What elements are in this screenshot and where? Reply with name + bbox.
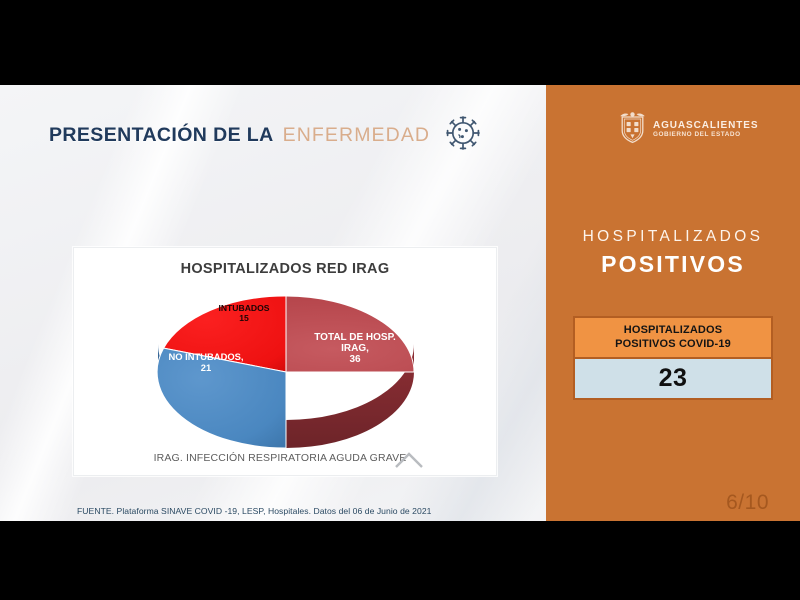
page-title: PRESENTACIÓN DE LA ENFERMEDAD <box>49 113 483 158</box>
source-footnote: FUENTE. Plataforma SINAVE COVID -19, LES… <box>77 506 432 516</box>
government-logo: AGUASCALIENTES GOBIERNO DEL ESTADO <box>619 111 758 149</box>
stat-card-label-line1: HOSPITALIZADOS <box>624 324 722 337</box>
pie-chart: INTUBADOS 15 NO INTUBADOS, 21 TOTAL DE H… <box>124 296 448 464</box>
chart-panel: HOSPITALIZADOS RED IRAG <box>73 247 497 476</box>
slide-canvas: PRESENTACIÓN DE LA ENFERMEDAD <box>0 85 800 521</box>
government-logo-text: AGUASCALIENTES GOBIERNO DEL ESTADO <box>653 121 758 138</box>
coat-of-arms-icon <box>619 111 646 149</box>
screenshot-frame: PRESENTACIÓN DE LA ENFERMEDAD <box>0 0 800 600</box>
sidebar-panel: AGUASCALIENTES GOBIERNO DEL ESTADO HOSPI… <box>546 85 800 521</box>
page-title-strong: PRESENTACIÓN DE LA <box>49 124 274 147</box>
government-logo-name: AGUASCALIENTES <box>653 121 758 131</box>
virus-icon <box>443 113 483 158</box>
sidebar-heading-light: HOSPITALIZADOS <box>546 228 800 246</box>
stat-card: HOSPITALIZADOS POSITIVOS COVID-19 23 <box>573 316 773 400</box>
stat-card-header: HOSPITALIZADOS POSITIVOS COVID-19 <box>575 318 771 359</box>
stat-card-label-line2: POSITIVOS COVID-19 <box>615 338 731 351</box>
page-number: 6/10 <box>726 491 769 515</box>
stat-card-value: 23 <box>659 364 688 393</box>
chevron-up-icon <box>394 451 424 469</box>
page-title-light: ENFERMEDAD <box>283 124 431 147</box>
irag-definition-note: IRAG. INFECCIÓN RESPIRATORIA AGUDA GRAVE <box>0 452 560 464</box>
sidebar-heading-bold: POSITIVOS <box>546 251 800 278</box>
pie-chart-svg <box>124 296 448 464</box>
chart-title: HOSPITALIZADOS RED IRAG <box>74 261 496 277</box>
government-logo-subtitle: GOBIERNO DEL ESTADO <box>653 132 758 138</box>
stat-card-body: 23 <box>575 359 771 398</box>
